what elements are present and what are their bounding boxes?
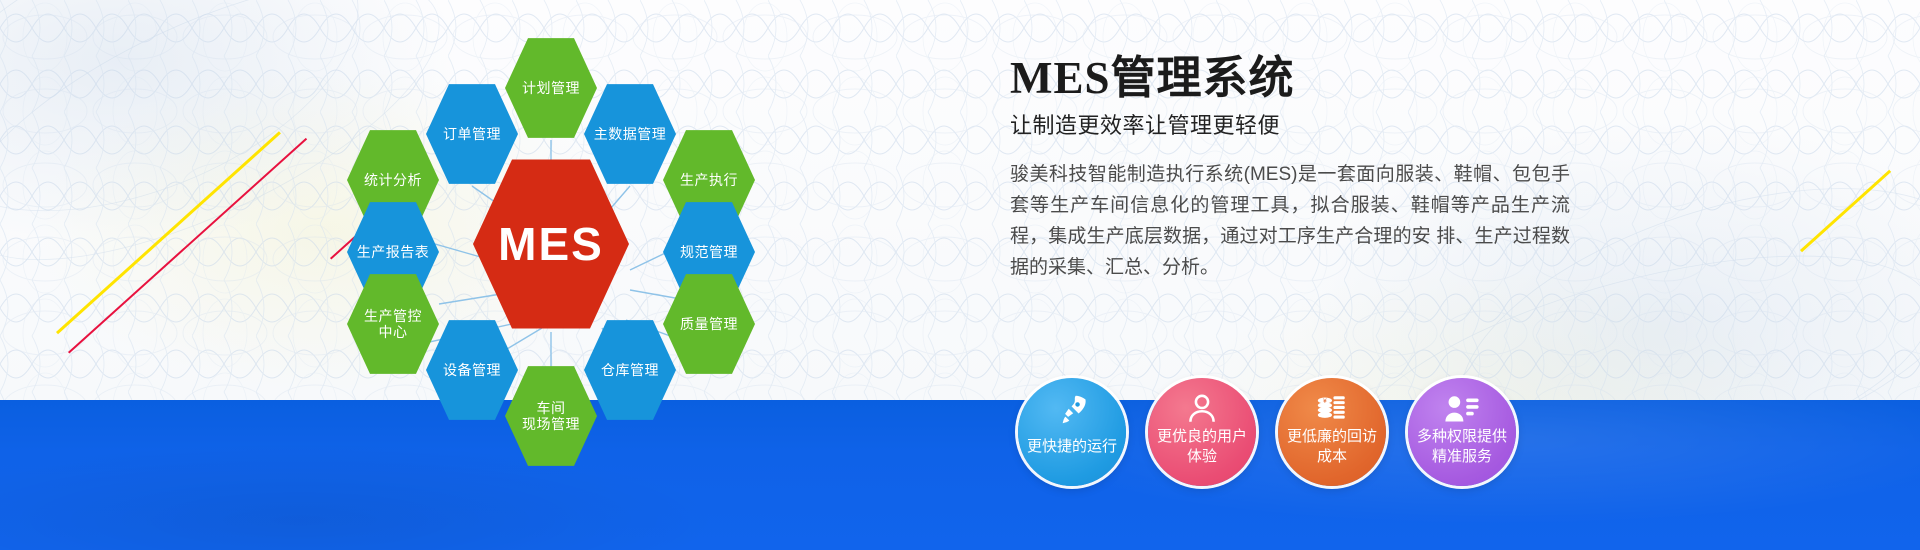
- background-bottom-blue-band: [0, 400, 1920, 550]
- hex-core-label: MES: [498, 218, 604, 271]
- feature-badges: 更快捷的运行更优良的用户体验¥更低廉的回访成本多种权限提供精准服务: [1018, 378, 1516, 486]
- hex-node-label: 规范管理: [680, 244, 738, 260]
- hex-node-label: 统计分析: [364, 172, 422, 188]
- hex-node-label: 设备管理: [443, 362, 501, 378]
- user-list-icon: [1408, 392, 1516, 426]
- hex-node-label: 生产执行: [680, 172, 738, 188]
- page-description: 骏美科技智能制造执行系统(MES)是一套面向服装、鞋帽、包包手套等生产车间信息化…: [1010, 160, 1570, 283]
- feature-badge-4[interactable]: 多种权限提供精准服务: [1408, 378, 1516, 486]
- user-icon: [1148, 392, 1256, 426]
- guilloche-pattern-decoration: [0, 0, 1920, 400]
- mes-banner: 计划管理订单管理主数据管理统计分析生产执行生产报告表规范管理生产管控中心质量管理…: [0, 0, 1920, 550]
- page-title: MES管理系统: [1010, 55, 1610, 102]
- svg-text:¥: ¥: [1323, 398, 1327, 405]
- mes-hex-diagram: 计划管理订单管理主数据管理统计分析生产执行生产报告表规范管理生产管控中心质量管理…: [330, 20, 800, 440]
- hex-node-label: 生产报告表: [357, 244, 430, 260]
- hex-node-label: 订单管理: [443, 126, 501, 142]
- feature-badge-2[interactable]: 更优良的用户体验: [1148, 378, 1256, 486]
- hex-node-label: 生产管控中心: [364, 308, 422, 340]
- hex-node-label: 车间现场管理: [522, 400, 580, 432]
- hex-node-label: 主数据管理: [594, 126, 667, 142]
- hex-node-label: 仓库管理: [601, 362, 659, 378]
- hex-node-label: 质量管理: [680, 316, 738, 332]
- page-subtitle: 让制造更效率让管理更轻便: [1010, 108, 1610, 140]
- rocket-icon: [1018, 392, 1126, 428]
- hex-node-label: 计划管理: [522, 80, 580, 96]
- coins-icon: ¥: [1278, 392, 1386, 426]
- right-content-block: MES管理系统 让制造更效率让管理更轻便 骏美科技智能制造执行系统(MES)是一…: [1010, 55, 1610, 283]
- feature-badge-1[interactable]: 更快捷的运行: [1018, 378, 1126, 486]
- feature-badge-3[interactable]: ¥更低廉的回访成本: [1278, 378, 1386, 486]
